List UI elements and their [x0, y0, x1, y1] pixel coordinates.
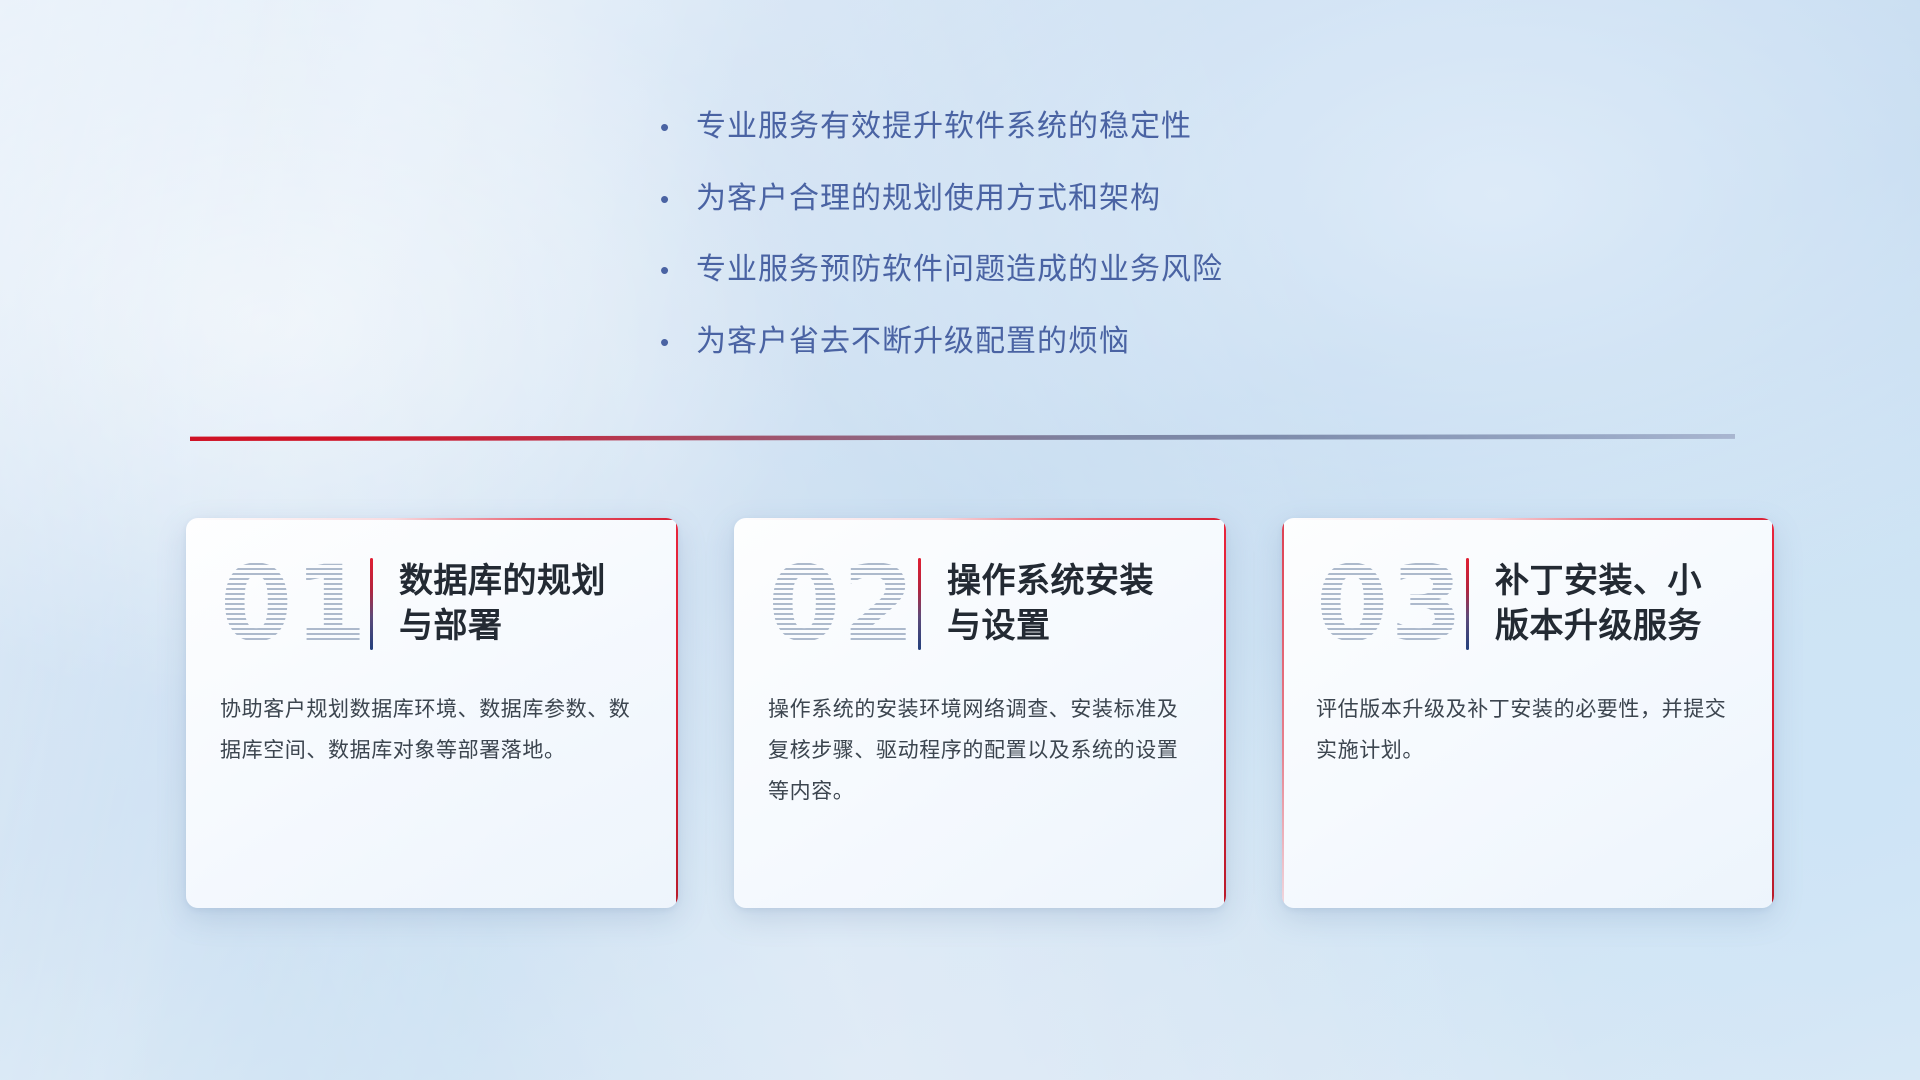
card-number: 02: [768, 548, 908, 660]
bullet-text: 专业服务有效提升软件系统的稳定性: [696, 108, 1192, 146]
card-title: 补丁安装、小 版本升级服务: [1495, 559, 1702, 649]
card-header: 01 数据库的规划 与部署: [186, 518, 678, 690]
bullet-text: 为客户省去不断升级配置的烦恼: [696, 323, 1130, 361]
list-item: • 专业服务预防软件问题造成的业务风险: [660, 251, 1420, 289]
card-header: 03 补丁安装、小 版本升级服务: [1282, 518, 1774, 690]
card-title-line2: 与设置: [947, 604, 1154, 649]
card-title-divider: [918, 558, 921, 650]
list-item: • 为客户省去不断升级配置的烦恼: [660, 323, 1420, 361]
card-header: 02 操作系统安装 与设置: [734, 518, 1226, 690]
card-title: 操作系统安装 与设置: [947, 559, 1154, 649]
card-body-text: 协助客户规划数据库环境、数据库参数、数据库空间、数据库对象等部署落地。: [186, 690, 678, 772]
bullet-dot-icon: •: [660, 114, 696, 140]
card-title-divider: [1466, 558, 1469, 650]
bullet-dot-icon: •: [660, 329, 696, 355]
card-title-line1: 补丁安装、小: [1495, 559, 1702, 604]
list-item: • 专业服务有效提升软件系统的稳定性: [660, 108, 1420, 146]
card-title-line2: 版本升级服务: [1495, 604, 1702, 649]
bullet-text: 专业服务预防软件问题造成的业务风险: [696, 251, 1223, 289]
card-body-text: 操作系统的安装环境网络调查、安装标准及复核步骤、驱动程序的配置以及系统的设置等内…: [734, 690, 1226, 813]
bullet-dot-icon: •: [660, 257, 696, 283]
bullet-text: 为客户合理的规划使用方式和架构: [696, 180, 1161, 218]
bullet-dot-icon: •: [660, 186, 696, 212]
card-number: 03: [1316, 548, 1456, 660]
service-card-03[interactable]: 03 补丁安装、小 版本升级服务 评估版本升级及补丁安装的必要性，并提交实施计划…: [1282, 518, 1774, 908]
service-card-group: 01 数据库的规划 与部署 协助客户规划数据库环境、数据库参数、数据库空间、数据…: [186, 518, 1774, 908]
card-title-line2: 与部署: [399, 604, 606, 649]
card-title: 数据库的规划 与部署: [399, 559, 606, 649]
card-title-line1: 数据库的规划: [399, 559, 606, 604]
card-body-text: 评估版本升级及补丁安装的必要性，并提交实施计划。: [1282, 690, 1774, 772]
service-card-01[interactable]: 01 数据库的规划 与部署 协助客户规划数据库环境、数据库参数、数据库空间、数据…: [186, 518, 678, 908]
divider-rule: [190, 434, 1735, 441]
service-card-02[interactable]: 02 操作系统安装 与设置 操作系统的安装环境网络调查、安装标准及复核步骤、驱动…: [734, 518, 1226, 908]
card-title-line1: 操作系统安装: [947, 559, 1154, 604]
list-item: • 为客户合理的规划使用方式和架构: [660, 180, 1420, 218]
benefits-bullet-list: • 专业服务有效提升软件系统的稳定性 • 为客户合理的规划使用方式和架构 • 专…: [660, 108, 1420, 360]
section-divider: [190, 430, 1735, 446]
card-number: 01: [220, 548, 360, 660]
card-title-divider: [370, 558, 373, 650]
